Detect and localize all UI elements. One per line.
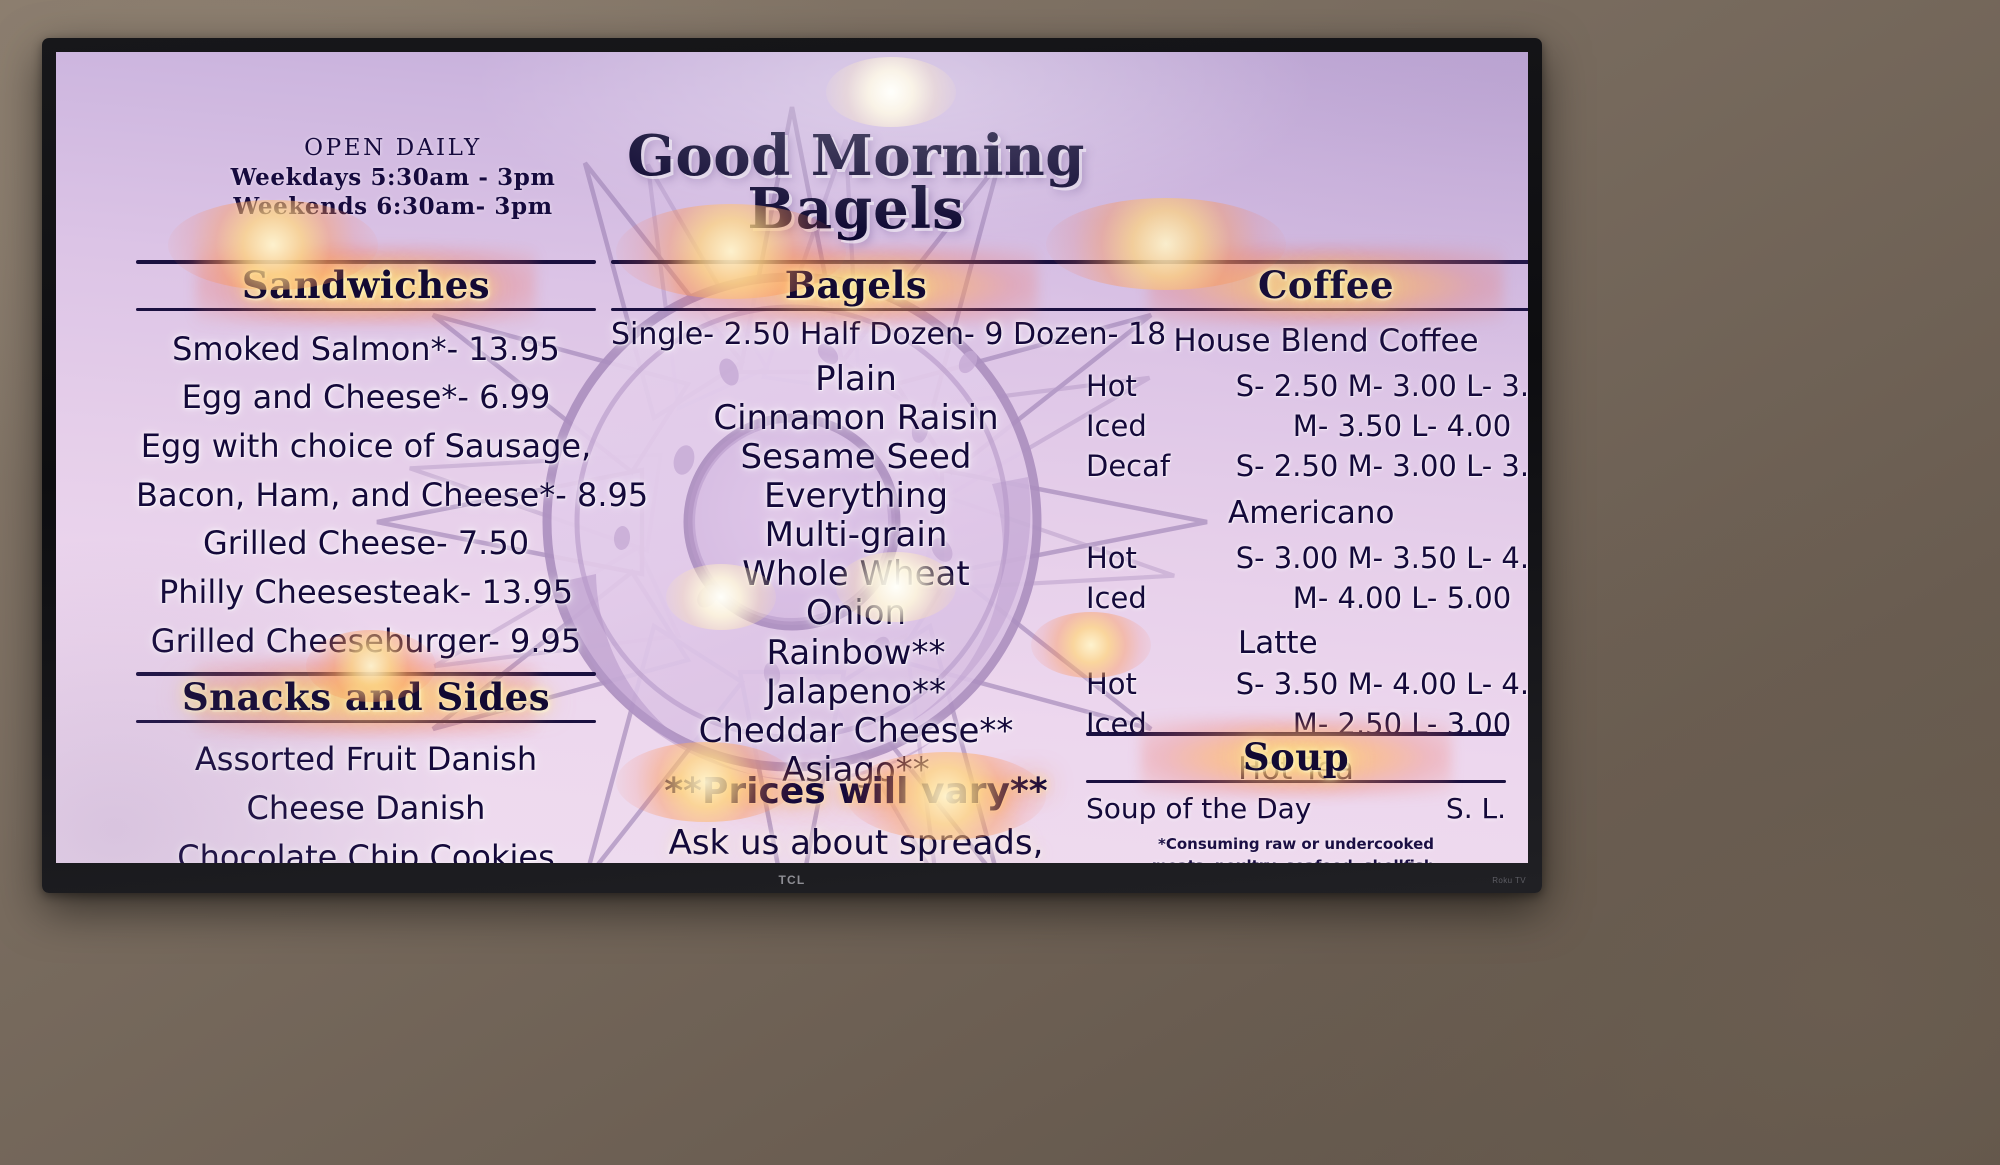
sandwiches-section: Sandwiches Smoked Salmon*- 13.95 Egg and…: [136, 260, 596, 665]
menu-item: Assorted Fruit Danish: [136, 735, 596, 784]
price-row: Iced M- 3.50 L- 4.00: [1086, 409, 1528, 443]
restaurant-logo: Good Morning Bagels: [556, 130, 1156, 236]
soup-title: Soup: [1086, 736, 1506, 780]
store-hours: OPEN DAILY Weekdays 5:30am - 3pm Weekend…: [228, 134, 558, 222]
price-row-values: S- 3.50 M- 4.00 L- 4.50: [1236, 667, 1528, 701]
price-row-label: Hot: [1086, 667, 1236, 701]
menu-item: Philly Cheesesteak- 13.95: [136, 568, 596, 617]
tv-os-label: Roku TV: [1492, 876, 1526, 885]
bagel-flavor: Plain: [611, 360, 1101, 399]
price-row: Iced M- 4.00 L- 5.00: [1086, 581, 1528, 615]
drink-name-americano: Americano: [1228, 495, 1528, 531]
divider-rule: [611, 308, 1101, 311]
bagel-flavor: Jalapeno**: [611, 673, 1101, 712]
bagel-flavor-list: Plain Cinnamon Raisin Sesame Seed Everyt…: [611, 360, 1101, 790]
price-row: Hot S- 3.50 M- 4.00 L- 4.50: [1086, 667, 1528, 701]
menu-item: Cheese Danish: [136, 784, 596, 833]
drink-name-house-blend: House Blend Coffee: [1086, 323, 1528, 359]
price-row: Decaf S- 2.50 M- 3.00 L- 3.50: [1086, 449, 1528, 483]
bagel-flavor: Cinnamon Raisin: [611, 399, 1101, 438]
price-row-values: S- 2.50 M- 3.00 L- 3.50: [1236, 449, 1528, 483]
logo-line-2: Bagels: [556, 183, 1156, 236]
bagel-flavor: Rainbow**: [611, 634, 1101, 673]
bagel-flavor: Sesame Seed: [611, 438, 1101, 477]
drink-name-latte: Latte: [1238, 625, 1528, 661]
soup-label: Soup of the Day: [1086, 792, 1311, 825]
bagel-flavor: Multi-grain: [611, 516, 1101, 555]
divider-rule: [136, 720, 596, 723]
hours-title: OPEN DAILY: [228, 134, 558, 163]
soup-header: Soup: [1086, 732, 1506, 783]
price-row-label: Hot: [1086, 369, 1236, 403]
price-row-label: Decaf: [1086, 449, 1236, 483]
menu-item: Bacon, Ham, and Cheese*- 8.95: [136, 471, 596, 520]
hours-weekdays: Weekdays 5:30am - 3pm: [228, 163, 558, 192]
tv-display: OPEN DAILY Weekdays 5:30am - 3pm Weekend…: [42, 38, 1542, 893]
price-row-values: M- 4.00 L- 5.00: [1238, 581, 1528, 615]
prices-vary-note: **Prices will vary**: [611, 770, 1101, 813]
menu-item: Smoked Salmon*- 13.95: [136, 325, 596, 374]
menu-item: Egg and Cheese*- 6.99: [136, 373, 596, 422]
bagels-header: Bagels: [611, 260, 1101, 311]
coffee-section: Coffee House Blend Coffee Hot S- 2.50 M-…: [1086, 260, 1528, 787]
price-row-values: S- 3.00 M- 3.50 L- 4.00: [1236, 541, 1528, 575]
snacks-header: Snacks and Sides: [136, 672, 596, 723]
spreads-note-1: Ask us about spreads,: [611, 823, 1101, 863]
divider-rule: [136, 308, 596, 311]
divider-rule: [1086, 308, 1528, 311]
bagels-title: Bagels: [611, 264, 1101, 308]
soup-section: Soup: [1086, 732, 1506, 783]
price-row-values: M- 3.50 L- 4.00: [1238, 409, 1528, 443]
food-safety-disclaimer: *Consuming raw or undercooked meats, pou…: [1146, 834, 1446, 863]
coffee-header: Coffee: [1086, 260, 1528, 311]
price-row-values: S- 2.50 M- 3.00 L- 3.50: [1236, 369, 1528, 403]
tv-brand-label: TCL: [42, 873, 1542, 887]
menu-item: Grilled Cheeseburger- 9.95: [136, 617, 596, 666]
coffee-title: Coffee: [1086, 264, 1528, 308]
bagel-flavor: Everything: [611, 477, 1101, 516]
bagel-flavor: Onion: [611, 594, 1101, 633]
bagel-price-line: Single- 2.50 Half Dozen- 9 Dozen- 18: [611, 317, 1101, 352]
price-row: Hot S- 2.50 M- 3.00 L- 3.50: [1086, 369, 1528, 403]
price-row-label: Iced: [1086, 409, 1238, 443]
price-row-label: Iced: [1086, 581, 1238, 615]
price-row-label: Hot: [1086, 541, 1236, 575]
bagel-flavor: Cheddar Cheese**: [611, 712, 1101, 751]
menu-item: Egg with choice of Sausage,: [136, 422, 596, 471]
soup-sizes: S. L.: [1446, 792, 1506, 825]
price-row: Hot S- 3.00 M- 3.50 L- 4.00: [1086, 541, 1528, 575]
bagel-flavor: Whole Wheat: [611, 555, 1101, 594]
sandwiches-title: Sandwiches: [136, 264, 596, 308]
bagels-section: Bagels Single- 2.50 Half Dozen- 9 Dozen-…: [611, 260, 1101, 790]
menu-item: Chocolate Chip Cookies: [136, 833, 596, 863]
menu-item: Grilled Cheese- 7.50: [136, 519, 596, 568]
snacks-title: Snacks and Sides: [136, 676, 596, 720]
sandwiches-header: Sandwiches: [136, 260, 596, 311]
snacks-section: Snacks and Sides Assorted Fruit Danish C…: [136, 672, 596, 863]
soup-of-the-day-row: Soup of the Day S. L.: [1086, 792, 1506, 825]
bagels-footnotes: **Prices will vary** Ask us about spread…: [611, 770, 1101, 863]
menu-board-screen: OPEN DAILY Weekdays 5:30am - 3pm Weekend…: [56, 52, 1528, 863]
hours-weekends: Weekends 6:30am- 3pm: [228, 192, 558, 221]
divider-rule: [1086, 780, 1506, 783]
